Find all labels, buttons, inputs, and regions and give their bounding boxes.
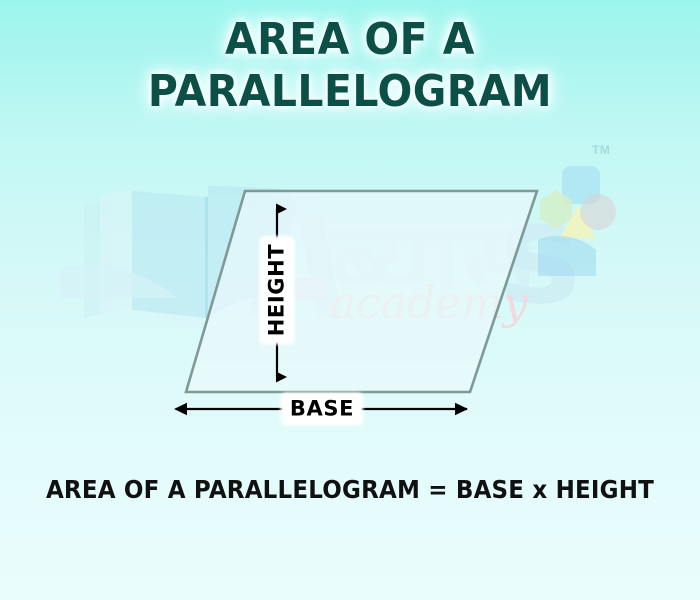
parallelogram-diagram: [0, 0, 700, 600]
formula-text: AREA OF A PARALLELOGRAM = BASE x HEIGHT: [28, 475, 672, 504]
parallelogram-shape: [186, 191, 537, 392]
height-label: HEIGHT: [262, 238, 293, 342]
poster-canvas: ब्यास s academy TM AREA OF A PARALLELOGR…: [0, 0, 700, 600]
base-label: BASE: [283, 395, 361, 424]
